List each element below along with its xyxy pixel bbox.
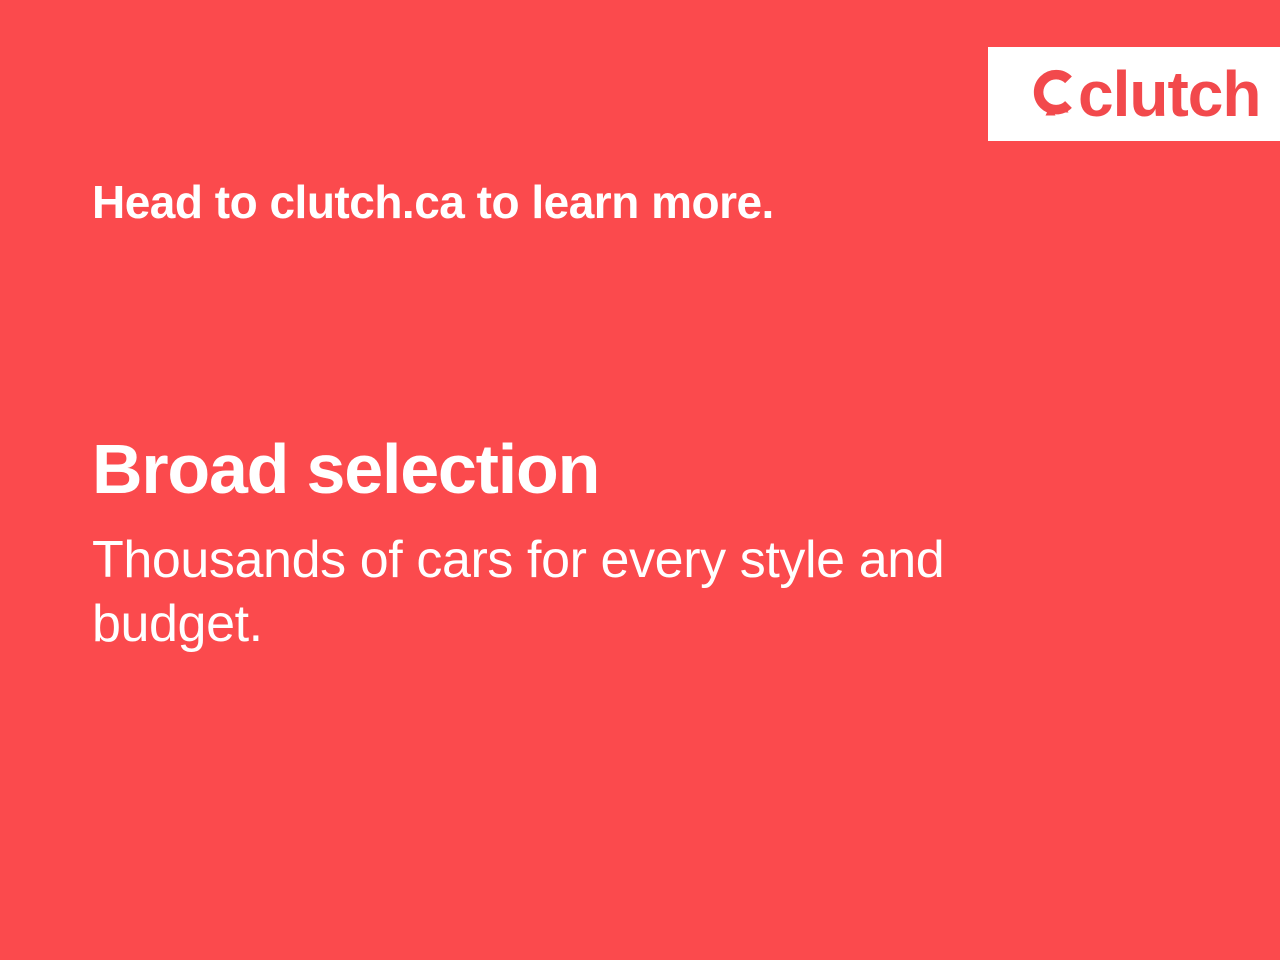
clutch-logo[interactable]: clutch xyxy=(1030,62,1260,126)
clutch-c-mark xyxy=(1030,68,1076,120)
headline: Broad selection xyxy=(92,434,1072,504)
promo-slide: clutch Head to clutch.ca to learn more. … xyxy=(0,0,1280,960)
copy-block: Broad selection Thousands of cars for ev… xyxy=(92,434,1072,656)
clutch-wordmark: clutch xyxy=(1078,62,1260,126)
brand-plate: clutch xyxy=(988,47,1280,141)
subheadline: Thousands of cars for every style and bu… xyxy=(92,528,1022,656)
eyebrow-text: Head to clutch.ca to learn more. xyxy=(92,179,774,225)
